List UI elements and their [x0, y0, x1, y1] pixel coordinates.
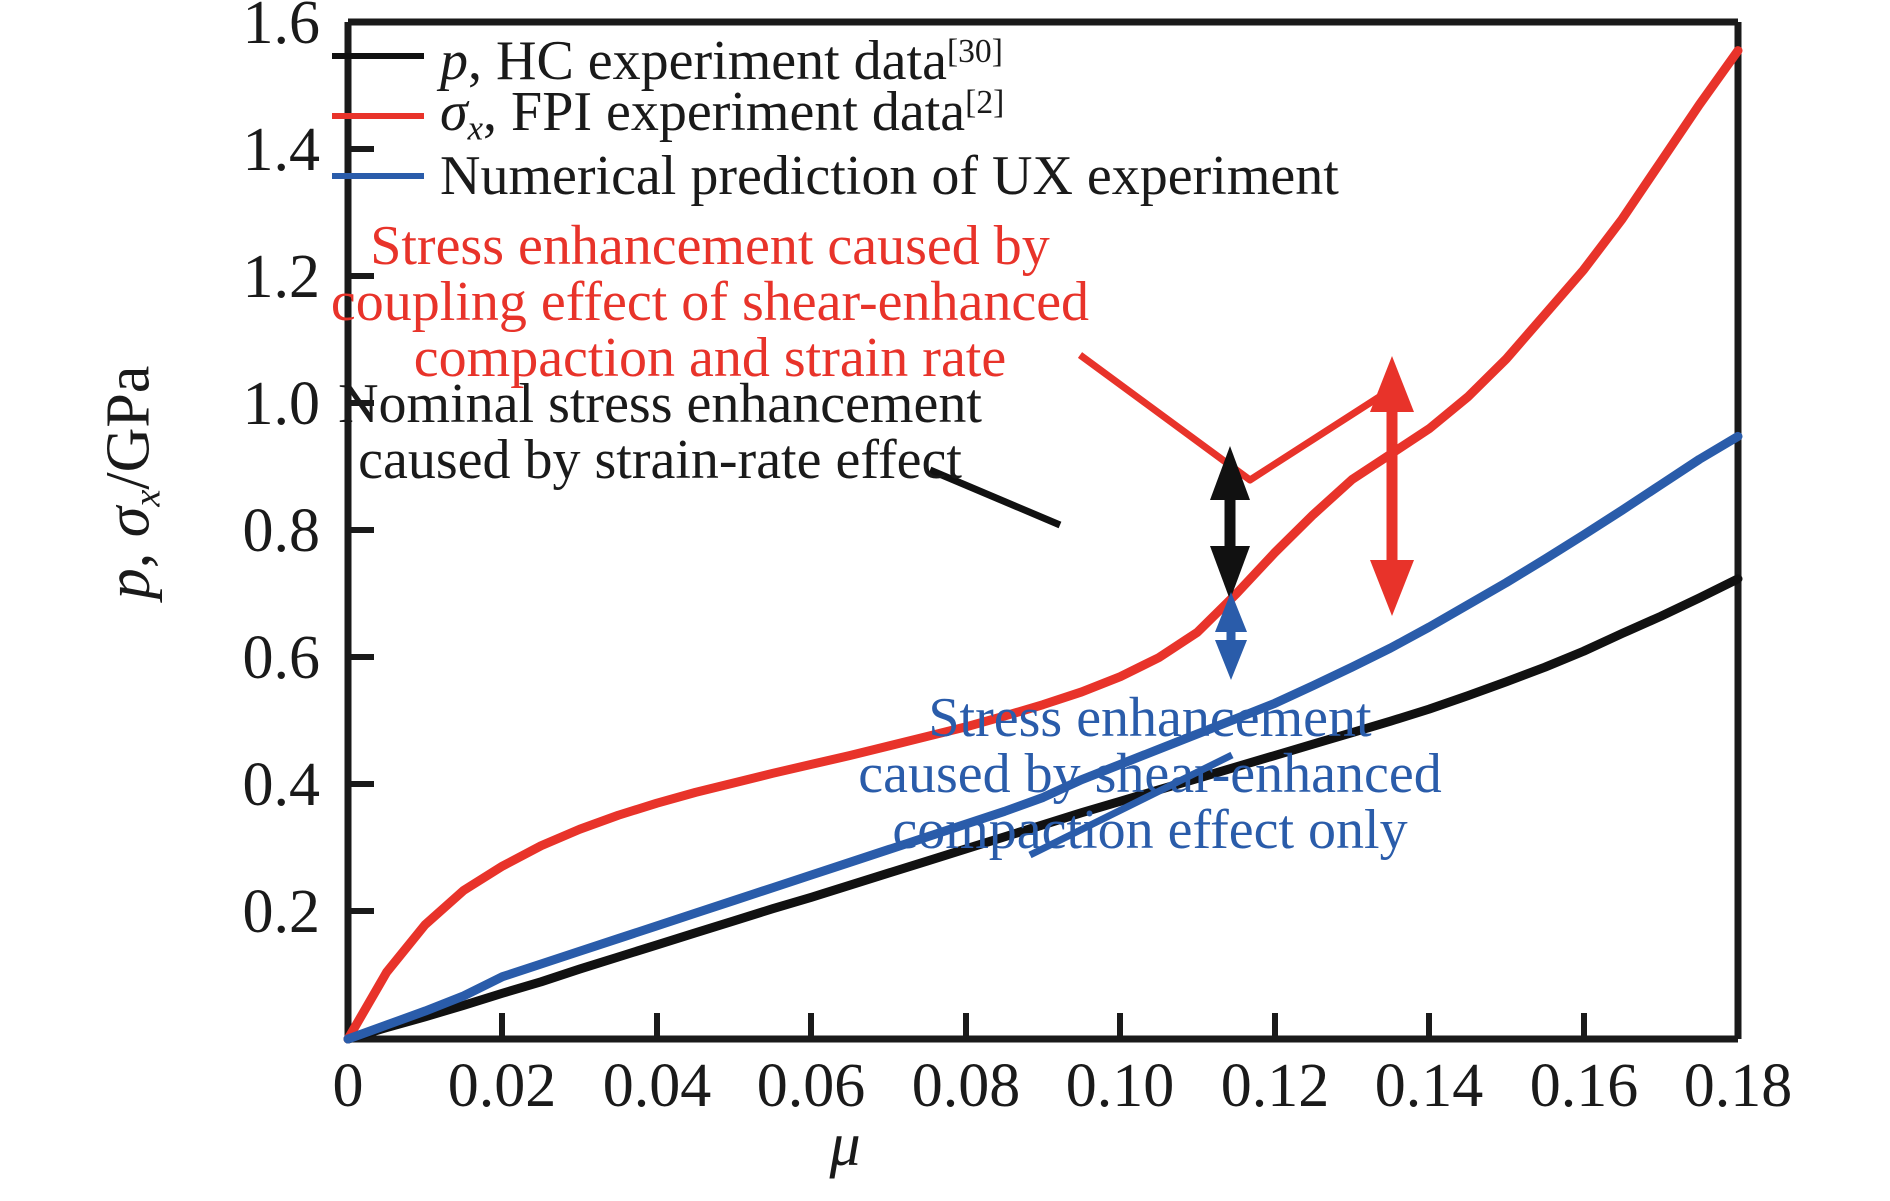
xtick-label-0-12: 0.12 — [1195, 1055, 1355, 1117]
legend-item-fpi[interactable]: σx, FPI experiment data[2] — [332, 86, 1392, 146]
ytick-label-0-4: 0.4 — [180, 754, 320, 816]
xtick-label-0-10: 0.10 — [1040, 1055, 1200, 1117]
annotation-blue-line3: compaction effect only — [840, 802, 1460, 858]
legend-item-numerical[interactable]: Numerical prediction of UX experiment — [332, 146, 1392, 206]
y-axis-title-sigma: σ — [95, 507, 163, 538]
ytick-label-0-2: 0.2 — [180, 881, 320, 943]
annotation-black-line2: caused by strain-rate effect — [300, 432, 1020, 488]
ytick-label-0-8: 0.8 — [180, 500, 320, 562]
annotation-red: Stress enhancement caused by coupling ef… — [330, 218, 1090, 386]
x-axis-title-mu: μ — [829, 1111, 860, 1179]
legend-swatch-black-icon — [332, 53, 424, 59]
annotation-black: Nominal stress enhancement caused by str… — [300, 376, 1020, 488]
ytick-label-1-6: 1.6 — [180, 0, 320, 54]
annotation-blue-line2: caused by shear-enhanced — [840, 746, 1460, 802]
legend-swatch-blue-icon — [332, 173, 424, 179]
x-ticks — [348, 1013, 1738, 1039]
y-axis-title-comma: , — [95, 537, 163, 568]
xtick-label-0-08: 0.08 — [886, 1055, 1046, 1117]
xtick-label-0-18: 0.18 — [1658, 1055, 1818, 1117]
legend: p, HC experiment data[30] σx, FPI experi… — [332, 26, 1392, 206]
black-double-arrow — [1210, 446, 1250, 600]
xtick-label-0: 0 — [268, 1055, 428, 1117]
ytick-label-0-6: 0.6 — [180, 627, 320, 689]
xtick-label-0-02: 0.02 — [422, 1055, 582, 1117]
y-axis-title-units: /GPa — [95, 366, 163, 490]
ytick-label-1-0: 1.0 — [180, 373, 320, 435]
ytick-label-1-4: 1.4 — [180, 119, 320, 181]
legend-label-numerical: Numerical prediction of UX experiment — [440, 147, 1339, 205]
xtick-label-0-04: 0.04 — [577, 1055, 737, 1117]
xtick-label-0-14: 0.14 — [1349, 1055, 1509, 1117]
annotation-red-line2: coupling effect of shear-enhanced — [330, 274, 1090, 330]
annotation-blue-line1: Stress enhancement — [840, 690, 1460, 746]
y-axis-title-sub: x — [126, 490, 168, 507]
y-axis-title: p, σx/GPa — [96, 282, 181, 682]
legend-swatch-red-icon — [332, 113, 424, 119]
xtick-label-0-16: 0.16 — [1504, 1055, 1664, 1117]
xtick-label-0-06: 0.06 — [731, 1055, 891, 1117]
annotation-blue: Stress enhancement caused by shear-enhan… — [840, 690, 1460, 858]
annotation-black-line1: Nominal stress enhancement — [300, 376, 1020, 432]
ytick-label-1-2: 1.2 — [180, 246, 320, 308]
chart-figure: 1.6 1.4 1.2 1.0 0.8 0.6 0.4 0.2 0 0.02 0… — [0, 0, 1890, 1201]
annotation-red-line1: Stress enhancement caused by — [330, 218, 1090, 274]
y-axis-title-p: p — [95, 568, 163, 599]
x-axis-title: μ — [745, 1112, 945, 1178]
